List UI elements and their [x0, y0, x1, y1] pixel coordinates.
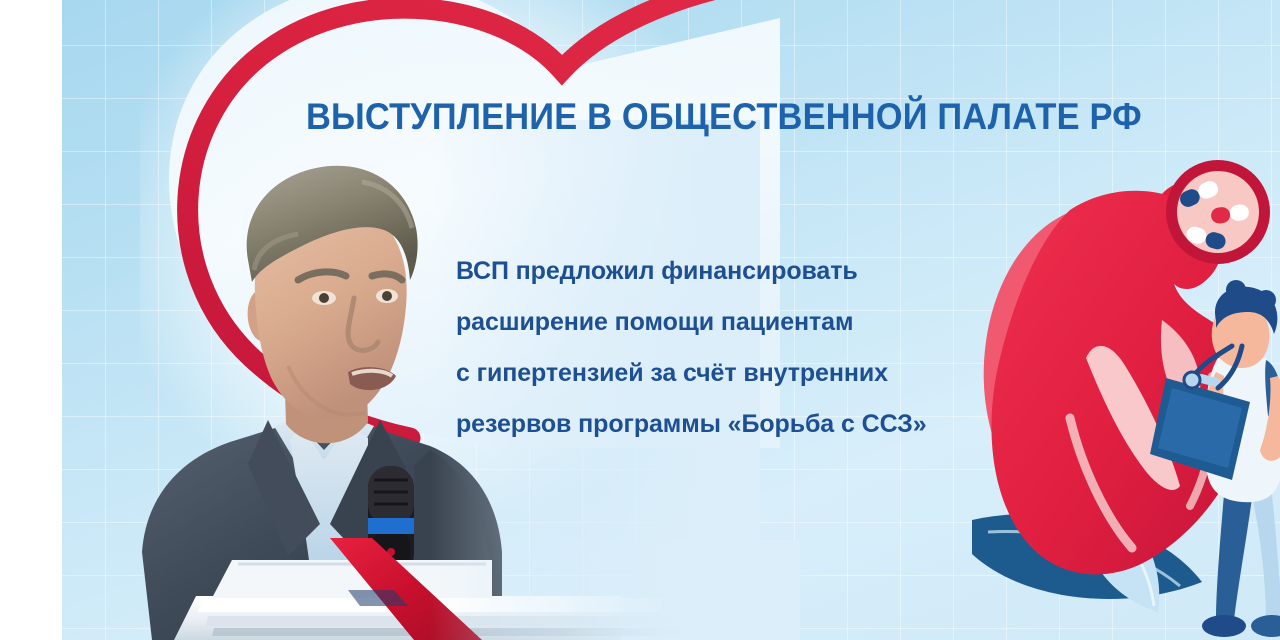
body-line-1: ВСП предложил финансировать [456, 246, 1096, 297]
body-line-3: с гипертензией за счёт внутренних [456, 348, 1096, 399]
podium-fade-overlay [560, 540, 800, 640]
pill-capsules-icon [1166, 160, 1270, 264]
page-title: ВЫСТУПЛЕНИЕ В ОБЩЕСТВЕННОЙ ПАЛАТЕ РФ [306, 96, 1142, 138]
body-line-2: расширение помощи пациентам [456, 297, 1096, 348]
body-text: ВСП предложил финансировать расширение п… [456, 246, 1096, 450]
slide-canvas: ВЫСТУПЛЕНИЕ В ОБЩЕСТВЕННОЙ ПАЛАТЕ РФ ВСП… [0, 0, 1280, 640]
body-line-4: резервов программы «Борьба с ССЗ» [456, 399, 1096, 450]
left-white-margin [0, 0, 62, 640]
